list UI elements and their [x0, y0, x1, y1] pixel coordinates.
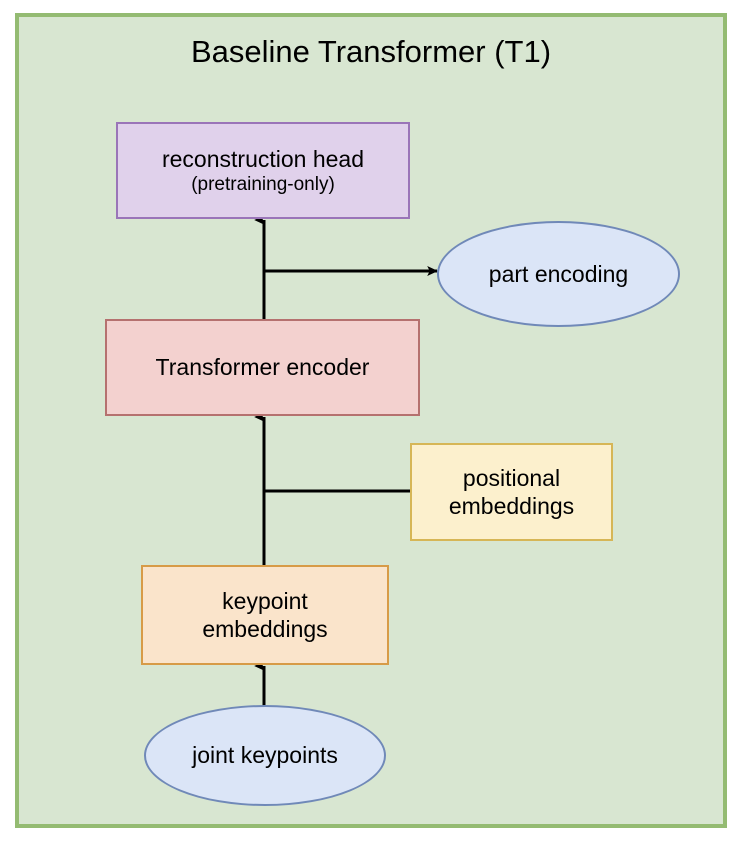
- node-part-encoding[interactable]: part encoding: [437, 221, 680, 327]
- node-positional-embeddings[interactable]: positional embeddings: [410, 443, 613, 541]
- node-joint-keypoints[interactable]: joint keypoints: [144, 705, 386, 806]
- node-part-encoding-label: part encoding: [489, 261, 628, 288]
- node-positional-embeddings-label: positional: [457, 464, 566, 492]
- node-keypoint-embeddings-sublabel: embeddings: [196, 615, 333, 643]
- node-reconstruction-head-label: reconstruction head: [156, 145, 370, 173]
- node-reconstruction-head[interactable]: reconstruction head (pretraining-only): [116, 122, 410, 219]
- node-transformer-encoder[interactable]: Transformer encoder: [105, 319, 420, 416]
- node-keypoint-embeddings[interactable]: keypoint embeddings: [141, 565, 389, 665]
- diagram-title: Baseline Transformer (T1): [15, 33, 727, 70]
- node-joint-keypoints-label: joint keypoints: [192, 742, 338, 769]
- node-keypoint-embeddings-label: keypoint: [216, 587, 314, 615]
- node-positional-embeddings-sublabel: embeddings: [443, 492, 580, 520]
- node-reconstruction-head-sublabel: (pretraining-only): [185, 173, 341, 196]
- node-transformer-encoder-label: Transformer encoder: [150, 353, 376, 381]
- diagram-root: Baseline Transformer (T1) reconstruction…: [0, 0, 752, 846]
